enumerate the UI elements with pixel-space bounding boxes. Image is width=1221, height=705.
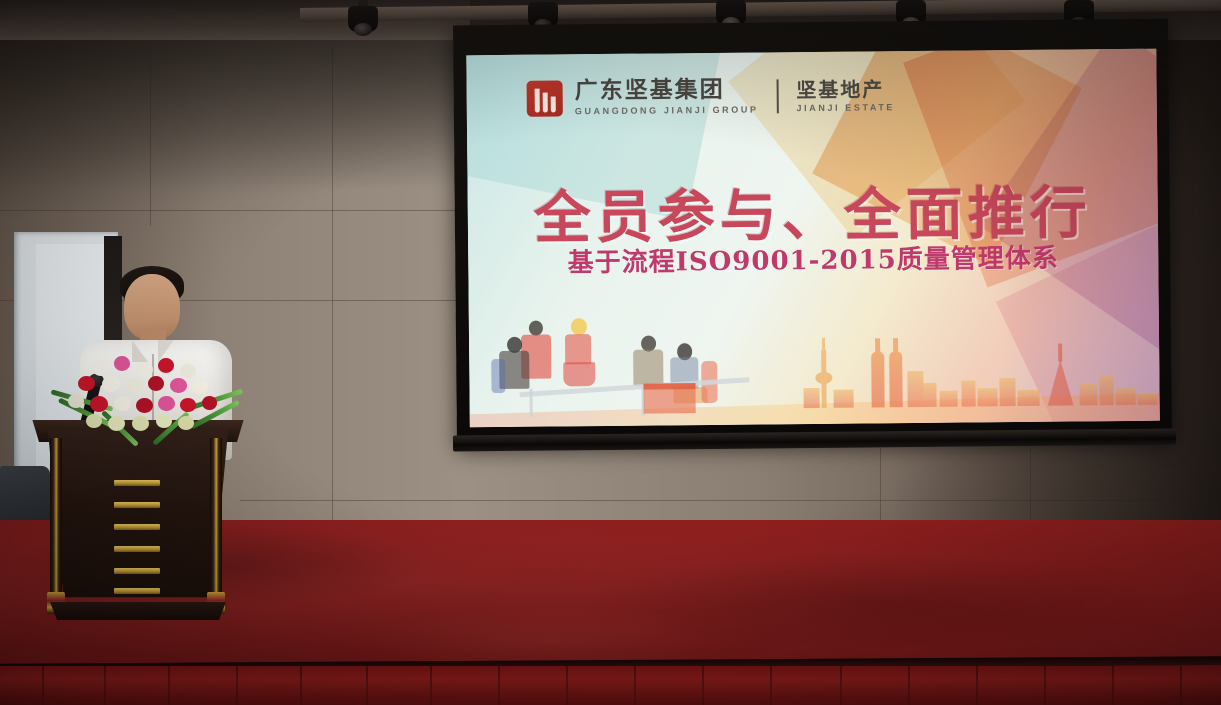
person-body [565, 334, 591, 364]
person-head [529, 321, 543, 336]
brand-name-block: 坚基地产 JIANJI ESTATE [796, 79, 895, 113]
flower [180, 364, 196, 378]
flower [132, 416, 149, 431]
company-name-cn: 广东坚基集团 [575, 79, 759, 104]
meeting-people-graphic [495, 308, 816, 419]
flower [136, 398, 153, 413]
flower [92, 360, 110, 376]
flower [78, 376, 95, 391]
flower [86, 414, 102, 428]
flower [126, 378, 143, 393]
podium-gold-trim [114, 546, 160, 552]
tv-tower-icon [821, 350, 827, 408]
flower [90, 396, 108, 412]
brand-name-cn: 坚基地产 [796, 79, 895, 100]
projection-screen: 广东坚基集团 GUANGDONG JIANJI GROUP 坚基地产 JIANJ… [453, 19, 1172, 446]
spotlight-icon [348, 6, 378, 40]
flower [180, 398, 196, 412]
flower [158, 396, 175, 411]
flower [178, 416, 194, 430]
company-name-en: GUANGDONG JIANJI GROUP [575, 106, 759, 117]
company-name-block: 广东坚基集团 GUANGDONG JIANJI GROUP [575, 79, 759, 117]
flower [202, 396, 217, 410]
jianji-logo-icon [527, 80, 563, 116]
podium-gold-trim [114, 502, 160, 508]
flower [156, 414, 172, 428]
person-skirt [563, 362, 595, 386]
slide-subtitle: 基于流程ISO9001-2015质量管理体系 [468, 237, 1158, 281]
twin-tower-icon [889, 351, 903, 407]
podium-gold-trim [114, 588, 160, 594]
floral-arrangement [56, 354, 236, 446]
logo-divider [776, 79, 778, 113]
red-table-graphic [643, 383, 695, 413]
flower [136, 362, 153, 377]
podium-column [50, 438, 62, 604]
flower [68, 394, 84, 408]
flower [148, 376, 164, 391]
flower [170, 378, 187, 393]
eiffel-tower-icon [1047, 360, 1073, 406]
brand-name-en: JIANJI ESTATE [796, 103, 895, 113]
slide-illustration [469, 301, 1160, 428]
flower [158, 358, 174, 373]
person-body [633, 349, 663, 385]
flower [114, 396, 131, 411]
flower [108, 416, 125, 431]
screen-surface: 广东坚基集团 GUANGDONG JIANJI GROUP 坚基地产 JIANJ… [466, 49, 1160, 428]
podium-gold-trim [114, 524, 160, 530]
conference-photo: 广东坚基集团 GUANGDONG JIANJI GROUP 坚基地产 JIANJ… [0, 0, 1221, 705]
podium-gold-trim [114, 568, 160, 574]
podium-and-speaker [28, 262, 258, 622]
podium-gold-trim [114, 480, 160, 486]
podium-base [50, 602, 226, 620]
stage-skirt [0, 666, 1221, 705]
flower [102, 376, 120, 392]
flower [192, 380, 208, 394]
twin-tower-icon [871, 351, 885, 407]
slide-logo-lockup: 广东坚基集团 GUANGDONG JIANJI GROUP 坚基地产 JIANJ… [527, 77, 896, 117]
person-head [571, 318, 587, 335]
city-skyline-graphic [799, 329, 1160, 408]
wall-seam [0, 210, 460, 211]
chair-graphic [491, 359, 505, 393]
flower [114, 356, 130, 371]
podium-column [210, 438, 222, 604]
